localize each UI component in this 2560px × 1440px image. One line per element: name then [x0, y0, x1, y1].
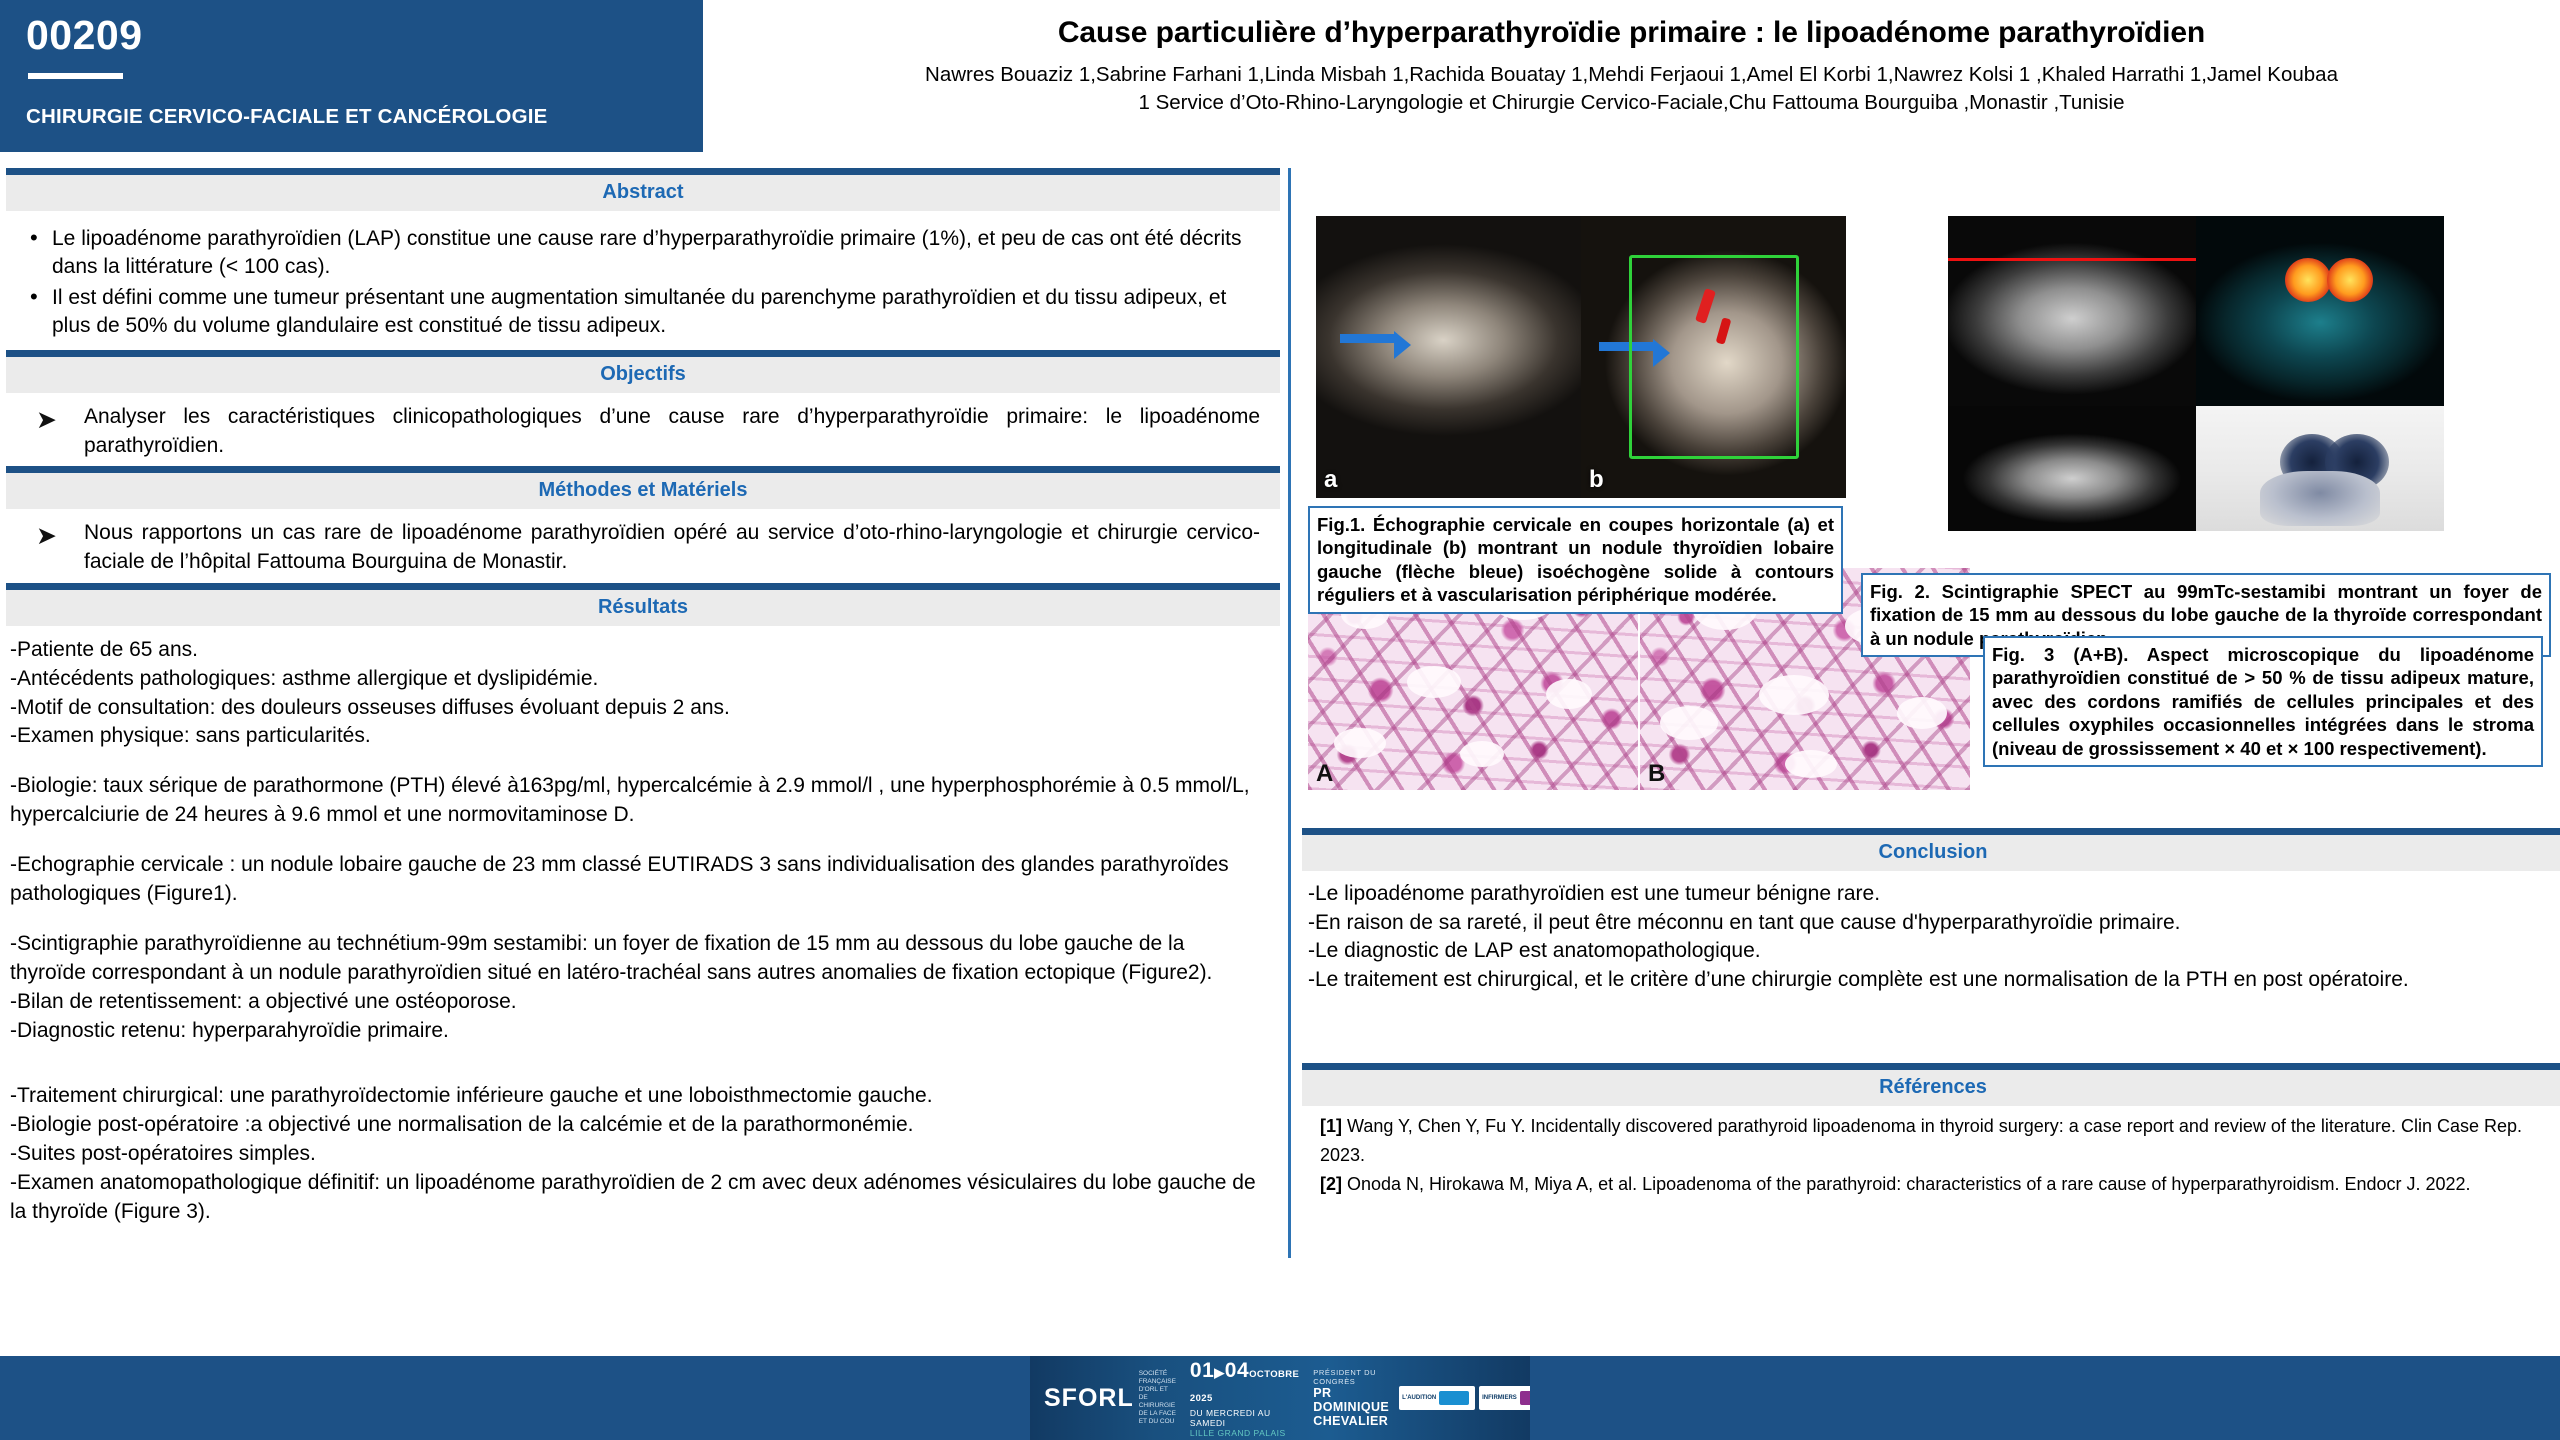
poster-authors: Nawres Bouaziz 1,Sabrine Farhani 1,Linda… [703, 61, 2560, 89]
figure1-image-a: a [1316, 216, 1581, 498]
resultats-line: -Antécédents pathologiques: asthme aller… [10, 665, 1258, 694]
poster-affiliation: 1 Service d’Oto-Rhino-Laryngologie et Ch… [703, 89, 2560, 117]
chip-audition-label: L'AUDITION [1402, 1395, 1436, 1401]
adipose-vacuole [1660, 706, 1718, 740]
references-body: [1] Wang Y, Chen Y, Fu Y. Incidentally d… [1294, 1100, 2544, 1199]
chip-audition-badge [1439, 1391, 1469, 1405]
thorax-silhouette [2260, 471, 2379, 526]
poster-number-badge: 00209 CHIRURGIE CERVICO-FACIALE ET CANCÉ… [0, 0, 703, 152]
chip-infirmiers-badge [1520, 1391, 1530, 1405]
conclusion-body: -Le lipoadénome parathyroïdien est une t… [1294, 868, 2544, 1000]
column-divider [1288, 168, 1291, 1258]
figure3-label-b: B [1648, 760, 1665, 788]
resultats-line: -Echographie cervicale : un nodule lobai… [10, 851, 1258, 909]
resultats-line: -Bilan de retentissement: a objectivé un… [10, 988, 1258, 1017]
poster-root: 00209 CHIRURGIE CERVICO-FACIALE ET CANCÉ… [0, 0, 2560, 1440]
conclusion-line: -En raison de sa rareté, il peut être mé… [1308, 909, 2522, 938]
resultats-line: -Examen physique: sans particularités. [10, 722, 1258, 751]
adipose-vacuole [1460, 741, 1504, 767]
figure2-image-ct-axial [1948, 216, 2196, 406]
reference-tag: [1] [1320, 1116, 1342, 1136]
resultats-line: -Motif de consultation: des douleurs oss… [10, 694, 1258, 723]
figure1-label-a: a [1324, 466, 1337, 494]
section-header-abstract: Abstract [6, 168, 1280, 211]
congress-date-range: 01▶04OCTOBRE 2025 [1190, 1359, 1299, 1407]
adipose-vacuole [1334, 728, 1386, 758]
figure1-label-b: b [1589, 466, 1604, 494]
chip-audition: L'AUDITION [1399, 1386, 1475, 1410]
date-start: 01 [1190, 1359, 1214, 1382]
objectifs-item: ➤ Analyser les caractéristiques clinicop… [0, 393, 1288, 466]
resultats-line: -Patiente de 65 ans. [10, 636, 1258, 665]
congress-dates: 01▶04OCTOBRE 2025 DU MERCREDI AU SAMEDI … [1190, 1359, 1299, 1438]
congress-president: PRÉSIDENT DU CONGRÈS PR DOMINIQUE CHEVAL… [1313, 1368, 1389, 1428]
pointer-arrow-icon [1340, 334, 1394, 343]
figure2-image-spect-fusion [2196, 216, 2444, 406]
resultats-line: -Traitement chirurgical: une parathyroïd… [10, 1082, 1258, 1111]
objectifs-text: Analyser les caractéristiques clinicopat… [84, 405, 1260, 457]
reference-tag: [2] [1320, 1174, 1342, 1194]
adipose-vacuole [1546, 679, 1592, 709]
adipose-vacuole [1897, 697, 1947, 729]
poster-specialty: CHIRURGIE CERVICO-FACIALE ET CANCÉROLOGI… [26, 105, 677, 129]
congress-banner: SFORL SOCIÉTÉ FRANÇAISE D'ORL ET DE CHIR… [1030, 1356, 1530, 1440]
date-end: 04 [1225, 1359, 1249, 1382]
abstract-list: Le lipoadénome parathyroïdien (LAP) cons… [0, 211, 1288, 350]
sforl-logo-subtitle: SOCIÉTÉ FRANÇAISE D'ORL ET DE CHIRURGIE … [1139, 1370, 1176, 1427]
congress-days: DU MERCREDI AU SAMEDI [1190, 1408, 1299, 1428]
resultats-body: -Patiente de 65 ans. -Antécédents pathol… [0, 626, 1288, 1227]
reference-item: [1] Wang Y, Chen Y, Fu Y. Incidentally d… [1320, 1112, 2522, 1170]
resultats-line: -Suites post-opératoires simples. [10, 1140, 1258, 1169]
poster-header: Cause particulière d’hyperparathyroïdie … [703, 0, 2560, 152]
resultats-line: -Biologie: taux sérique de parathormone … [10, 772, 1258, 830]
resultats-line: -Biologie post-opératoire :a objectivé u… [10, 1111, 1258, 1140]
poster-number: 00209 [26, 14, 677, 57]
reference-item: [2] Onoda N, Hirokawa M, Miya A, et al. … [1320, 1170, 2522, 1199]
doppler-marker-icon [1695, 288, 1716, 324]
list-item: Il est défini comme une tumeur présentan… [24, 284, 1266, 341]
adipose-vacuole [1759, 675, 1829, 715]
conclusion-line: -Le lipoadénome parathyroïdien est une t… [1308, 880, 2522, 909]
figure1-image-b: b [1581, 216, 1846, 498]
reference-text: Onoda N, Hirokawa M, Miya A, et al. Lipo… [1342, 1174, 2471, 1194]
figure3-caption: Fig. 3 (A+B). Aspect microscopique du li… [1983, 636, 2543, 767]
reference-text: Wang Y, Chen Y, Fu Y. Incidentally disco… [1320, 1116, 2522, 1165]
poster-title: Cause particulière d’hyperparathyroïdie … [703, 0, 2560, 50]
chip-infirmiers-label: INFIRMIERS [1482, 1395, 1517, 1401]
uptake-focus-marker [2327, 258, 2373, 302]
section-header-objectifs: Objectifs [6, 350, 1280, 393]
sforl-logo-text: SFORL [1044, 1384, 1134, 1413]
resultats-line: -Examen anatomopathologique définitif: u… [10, 1169, 1258, 1227]
resultats-line: -Scintigraphie parathyroïdienne au techn… [10, 930, 1258, 988]
congress-place: LILLE GRAND PALAIS [1190, 1428, 1299, 1438]
methodes-text: Nous rapportons un cas rare de lipoadéno… [84, 521, 1260, 573]
left-column: Abstract Le lipoadénome parathyroïdien (… [0, 168, 1288, 1227]
arrow-bullet-icon: ➤ [36, 519, 57, 553]
uptake-focus-marker [2285, 258, 2331, 302]
figure1-caption: Fig.1. Échographie cervicale en coupes h… [1308, 506, 1843, 614]
badge-rule [28, 73, 123, 79]
conclusion-line: -Le diagnostic de LAP est anatomopatholo… [1308, 937, 2522, 966]
chip-infirmiers: INFIRMIERS [1479, 1386, 1530, 1410]
date-arrow-icon: ▶ [1214, 1365, 1225, 1380]
adipose-vacuole [1785, 750, 1837, 778]
methodes-item: ➤ Nous rapportons un cas rare de lipoadé… [0, 509, 1288, 582]
figure2-image-ct-lower [1948, 406, 2196, 531]
conclusion-line: -Le traitement est chirurgical, et le cr… [1308, 966, 2522, 995]
sforl-logo-block: SFORL SOCIÉTÉ FRANÇAISE D'ORL ET DE CHIR… [1036, 1370, 1176, 1427]
resultats-line: -Diagnostic retenu: hyperparahyroïdie pr… [10, 1017, 1258, 1046]
adipose-vacuole [1407, 666, 1461, 698]
footer-banner: SFORL SOCIÉTÉ FRANÇAISE D'ORL ET DE CHIR… [0, 1356, 2560, 1440]
doppler-marker-icon [1715, 317, 1731, 344]
banner-chips: L'AUDITION INFIRMIERS [1399, 1386, 1530, 1410]
president-label: PRÉSIDENT DU CONGRÈS [1313, 1368, 1389, 1386]
list-item: Le lipoadénome parathyroïdien (LAP) cons… [24, 225, 1266, 282]
pointer-arrow-icon [1599, 342, 1653, 351]
arrow-bullet-icon: ➤ [36, 403, 57, 437]
section-header-conclusion: Conclusion [1302, 828, 2560, 871]
section-header-resultats: Résultats [6, 583, 1280, 626]
reference-line [1948, 258, 2196, 261]
figure2-image-planar-scintigraphy [2196, 406, 2444, 531]
section-header-methodes: Méthodes et Matériels [6, 466, 1280, 509]
president-name: PR DOMINIQUE CHEVALIER [1313, 1386, 1389, 1428]
figure3-label-a: A [1316, 760, 1333, 788]
